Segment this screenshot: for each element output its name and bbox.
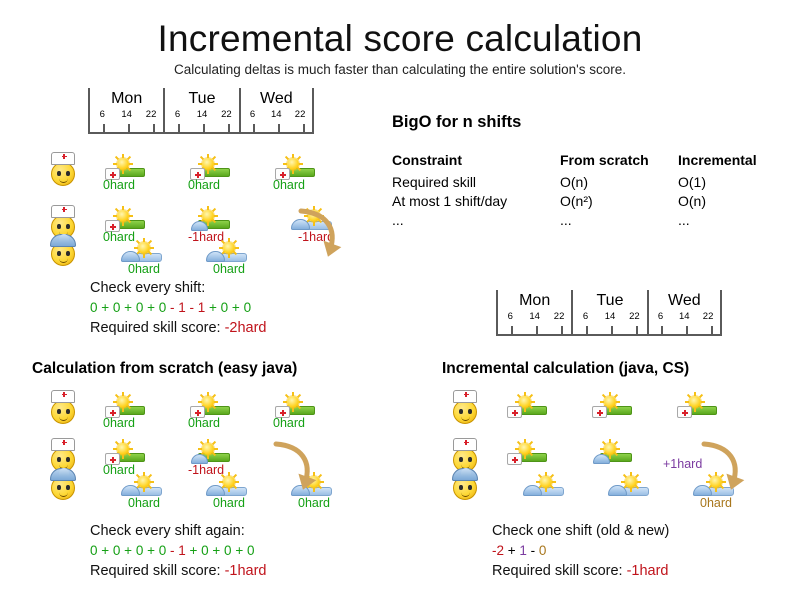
timeline-axis <box>649 323 720 336</box>
bigo-row: Required skillO(n)O(1) <box>392 172 757 191</box>
timeline-tick <box>153 124 155 132</box>
timeline-day-label: Tue <box>573 290 646 311</box>
shift-chip[interactable]: -1hard <box>188 445 234 465</box>
move-arrow-icon <box>297 207 343 263</box>
timeline-day-tue: Tue61422 <box>571 290 646 336</box>
sum-token: + <box>504 543 519 558</box>
nurse-cap-icon <box>51 438 75 451</box>
blue-cap-icon <box>121 251 140 262</box>
timeline-axis <box>498 323 571 336</box>
avatar-nurse <box>48 152 78 186</box>
timeline-tick <box>278 124 280 132</box>
shift-chip[interactable]: 0hard <box>188 160 234 180</box>
hard-hat-icon <box>452 468 478 481</box>
sum-token: -2 <box>492 543 504 558</box>
nurse-cap-icon <box>51 390 75 403</box>
shift-score-label: 0hard <box>103 416 165 430</box>
nurse-badge-icon <box>677 406 692 418</box>
bigo-header-incremental: Incremental <box>678 152 757 172</box>
blue-cap-icon <box>593 454 610 464</box>
timeline-hour-label: 14 <box>264 109 288 121</box>
timeline-hour-labels: 61422 <box>573 311 646 323</box>
caption-check-every-shift-again: Check every shift again: 0 + 0 + 0 + 0 -… <box>90 521 267 581</box>
timeline-axis <box>241 121 312 134</box>
timeline-hour-label: 6 <box>649 311 673 323</box>
nurse-badge-icon <box>507 406 522 418</box>
timeline-tick <box>711 326 713 334</box>
timeline-hour-label: 22 <box>288 109 312 121</box>
bigo-cell: Required skill <box>392 172 560 191</box>
sum-token: - <box>166 543 178 558</box>
sum-token: - <box>186 300 198 315</box>
timeline-tick <box>178 124 180 132</box>
timeline-day-label: Wed <box>649 290 720 311</box>
timeline-hour-labels: 61422 <box>165 109 238 121</box>
timeline-hour-labels: 61422 <box>90 109 163 121</box>
shift-chip[interactable]: 0hard <box>273 398 319 418</box>
sun-icon <box>223 242 235 254</box>
timeline-hour-label: 22 <box>139 109 163 121</box>
avatar-nurse <box>450 390 480 424</box>
bigo-cell: ... <box>560 210 678 229</box>
timeline-tick <box>611 326 613 334</box>
sun-icon <box>138 242 150 254</box>
sum-token: 0 <box>247 543 255 558</box>
bigo-cell: O(1) <box>678 172 757 191</box>
sun-icon <box>138 476 150 488</box>
shift-chip[interactable]: 0hard <box>273 160 319 180</box>
shift-score-label: 0hard <box>188 416 250 430</box>
avatar-hard <box>450 466 480 500</box>
timeline-axis <box>90 121 163 134</box>
bigo-cell: O(n²) <box>560 191 678 210</box>
sum-token: + <box>120 300 135 315</box>
blue-cap-icon <box>608 485 627 496</box>
timeline-tick <box>511 326 513 334</box>
timeline-day-wed: Wed61422 <box>647 290 722 336</box>
caption-check-every-shift: Check every shift: 0 + 0 + 0 + 0 - 1 - 1… <box>90 278 267 338</box>
sum-token: + <box>143 543 158 558</box>
shift-score-label: 0hard <box>188 178 250 192</box>
shift-chip[interactable]: 0hard <box>120 244 166 264</box>
nurse-badge-icon <box>592 406 607 418</box>
blue-cap-icon <box>523 485 542 496</box>
sun-icon <box>604 443 616 455</box>
move-arrow-icon <box>700 440 746 496</box>
caption-line-1: Check one shift (old & new) <box>492 521 669 541</box>
sum-token: 1 <box>178 543 186 558</box>
sum-token: + <box>228 300 243 315</box>
shift-chip[interactable]: 0hard <box>120 478 166 498</box>
timeline-axis <box>573 323 646 336</box>
timeline-tick <box>586 326 588 334</box>
sum-token: + <box>232 543 247 558</box>
timeline-day-wed: Wed61422 <box>239 88 314 134</box>
shift-score-label: 0hard <box>700 496 762 510</box>
timeline-hour-label: 22 <box>622 311 646 323</box>
sum-token: + <box>120 543 135 558</box>
bigo-table: Constraint From scratch Incremental Requ… <box>392 152 757 229</box>
nurse-cap-icon <box>51 152 75 165</box>
bigo-header-constraint: Constraint <box>392 152 560 172</box>
timeline-header-top: Mon61422Tue61422Wed61422 <box>88 88 314 134</box>
timeline-hour-label: 6 <box>241 109 265 121</box>
nurse-badge-icon <box>507 453 522 465</box>
page-subtitle: Calculating deltas is much faster than c… <box>0 62 800 77</box>
shift-score-label: 0hard <box>213 496 275 510</box>
hard-hat-icon <box>50 234 76 247</box>
timeline-tick <box>203 124 205 132</box>
timeline-hour-label: 14 <box>522 311 546 323</box>
shift-score-label: 0hard <box>298 496 360 510</box>
timeline-hour-label: 14 <box>598 311 622 323</box>
timeline-day-label: Tue <box>165 88 238 109</box>
section-title-incremental: Incremental calculation (java, CS) <box>442 360 689 378</box>
timeline-hour-label: 14 <box>672 311 696 323</box>
shift-chip[interactable] <box>505 398 551 418</box>
delta-score-label: +1hard <box>663 457 702 471</box>
sum-token: 0 <box>90 300 98 315</box>
sum-token: - <box>527 543 539 558</box>
blue-cap-icon <box>206 251 225 262</box>
avatar-hard <box>48 232 78 266</box>
caption-sum: 0 + 0 + 0 + 0 - 1 + 0 + 0 + 0 <box>90 541 267 561</box>
timeline-hour-label: 6 <box>573 311 597 323</box>
caption-sum: -2 + 1 - 0 <box>492 541 669 561</box>
nurse-cap-icon <box>51 205 75 218</box>
sun-icon <box>223 476 235 488</box>
caption-line-1: Check every shift: <box>90 278 267 298</box>
timeline-tick <box>228 124 230 132</box>
timeline-hour-label: 14 <box>114 109 138 121</box>
caption-result-value: -1hard <box>627 563 669 579</box>
sum-token: + <box>205 300 220 315</box>
smiley-face-icon <box>51 400 75 424</box>
bigo-cell: ... <box>392 210 560 229</box>
smiley-face-icon <box>51 162 75 186</box>
timeline-tick <box>661 326 663 334</box>
bigo-row: ......... <box>392 210 757 229</box>
caption-result-value: -2hard <box>225 320 267 336</box>
shift-chip[interactable]: 0hard <box>205 244 251 264</box>
avatar-hard <box>48 466 78 500</box>
shift-score-label: -1hard <box>188 463 250 477</box>
timeline-hour-label: 22 <box>547 311 571 323</box>
bigo-cell: O(n) <box>678 191 757 210</box>
shift-chip[interactable] <box>590 398 636 418</box>
bigo-header-row: Constraint From scratch Incremental <box>392 152 757 172</box>
shift-score-label: 0hard <box>103 230 165 244</box>
shift-chip[interactable] <box>675 398 721 418</box>
bigo-title: BigO for n shifts <box>392 113 757 132</box>
timeline-tick <box>103 124 105 132</box>
sum-token: 0 <box>90 543 98 558</box>
bigo-cell: At most 1 shift/day <box>392 191 560 210</box>
sum-token: + <box>143 300 158 315</box>
shift-chip[interactable] <box>505 445 551 465</box>
shift-chip[interactable] <box>590 445 636 465</box>
timeline-day-mon: Mon61422 <box>496 290 571 336</box>
timeline-day-label: Wed <box>241 88 312 109</box>
bigo-row: At most 1 shift/dayO(n²)O(n) <box>392 191 757 210</box>
sum-token: - <box>166 300 178 315</box>
blue-cap-icon <box>206 485 225 496</box>
hard-hat-icon <box>50 468 76 481</box>
timeline-day-label: Mon <box>90 88 163 109</box>
timeline-hour-labels: 61422 <box>498 311 571 323</box>
timeline-hour-labels: 61422 <box>241 109 312 121</box>
caption-result: Required skill score: -1hard <box>90 561 267 581</box>
nurse-cap-icon <box>453 438 477 451</box>
shift-score-label: 0hard <box>273 178 335 192</box>
sum-token: + <box>98 300 113 315</box>
timeline-tick <box>686 326 688 334</box>
timeline-day-mon: Mon61422 <box>88 88 163 134</box>
caption-line-1: Check every shift again: <box>90 521 267 541</box>
timeline-hour-label: 6 <box>165 109 189 121</box>
move-arrow-icon <box>272 440 318 496</box>
shift-chip[interactable]: 0hard <box>205 478 251 498</box>
timeline-tick <box>303 124 305 132</box>
blue-cap-icon <box>121 485 140 496</box>
caption-result-value: -1hard <box>225 563 267 579</box>
timeline-hour-label: 6 <box>498 311 522 323</box>
timeline-hour-label: 22 <box>214 109 238 121</box>
sum-token: 0 <box>244 300 252 315</box>
shift-chip[interactable]: 0hard <box>103 398 149 418</box>
sun-icon <box>540 476 552 488</box>
shift-chip[interactable]: 0hard <box>103 212 149 232</box>
timeline-header-bottom: Mon61422Tue61422Wed61422 <box>496 290 722 336</box>
shift-chip[interactable]: 0hard <box>103 160 149 180</box>
sum-token: 1 <box>178 300 186 315</box>
bigo-body: Required skillO(n)O(1)At most 1 shift/da… <box>392 172 757 229</box>
sum-token: + <box>186 543 201 558</box>
sun-icon <box>202 443 214 455</box>
timeline-axis <box>165 121 238 134</box>
bigo-table-block: BigO for n shifts Constraint From scratc… <box>392 113 757 229</box>
sun-icon <box>202 210 214 222</box>
section-title-from-scratch: Calculation from scratch (easy java) <box>32 360 297 378</box>
timeline-hour-label: 14 <box>190 109 214 121</box>
timeline-hour-labels: 61422 <box>649 311 720 323</box>
page-title: Incremental score calculation <box>0 18 800 60</box>
caption-result: Required skill score: -1hard <box>492 561 669 581</box>
sun-icon <box>625 476 637 488</box>
shift-chip[interactable]: 0hard <box>188 398 234 418</box>
shift-score-label: 0hard <box>128 496 190 510</box>
timeline-tick <box>253 124 255 132</box>
shift-chip[interactable] <box>607 478 653 498</box>
shift-score-label: 0hard <box>213 262 275 276</box>
timeline-tick <box>561 326 563 334</box>
shift-chip[interactable] <box>522 478 568 498</box>
timeline-day-tue: Tue61422 <box>163 88 238 134</box>
sum-token: 0 <box>224 543 232 558</box>
timeline-hour-label: 6 <box>90 109 114 121</box>
shift-score-label: 0hard <box>128 262 190 276</box>
bigo-header-from-scratch: From scratch <box>560 152 678 172</box>
timeline-tick <box>636 326 638 334</box>
shift-chip[interactable]: -1hard <box>188 212 234 232</box>
sum-token: 0 <box>201 543 209 558</box>
sum-token: 0 <box>539 543 547 558</box>
bigo-cell: ... <box>678 210 757 229</box>
smiley-face-icon <box>453 400 477 424</box>
avatar-nurse <box>48 390 78 424</box>
timeline-tick <box>128 124 130 132</box>
sum-token: + <box>98 543 113 558</box>
shift-chip[interactable]: 0hard <box>103 445 149 465</box>
sum-token: 1 <box>519 543 527 558</box>
shift-score-label: 0hard <box>103 178 165 192</box>
bigo-cell: O(n) <box>560 172 678 191</box>
caption-sum: 0 + 0 + 0 + 0 - 1 - 1 + 0 + 0 <box>90 298 267 318</box>
shift-score-label: 0hard <box>273 416 335 430</box>
timeline-day-label: Mon <box>498 290 571 311</box>
timeline-hour-label: 22 <box>696 311 720 323</box>
shift-score-label: 0hard <box>103 463 165 477</box>
caption-check-one-shift: Check one shift (old & new) -2 + 1 - 0 R… <box>492 521 669 581</box>
caption-result: Required skill score: -2hard <box>90 318 267 338</box>
timeline-tick <box>536 326 538 334</box>
shift-score-label: -1hard <box>188 230 250 244</box>
sum-token: + <box>209 543 224 558</box>
nurse-cap-icon <box>453 390 477 403</box>
